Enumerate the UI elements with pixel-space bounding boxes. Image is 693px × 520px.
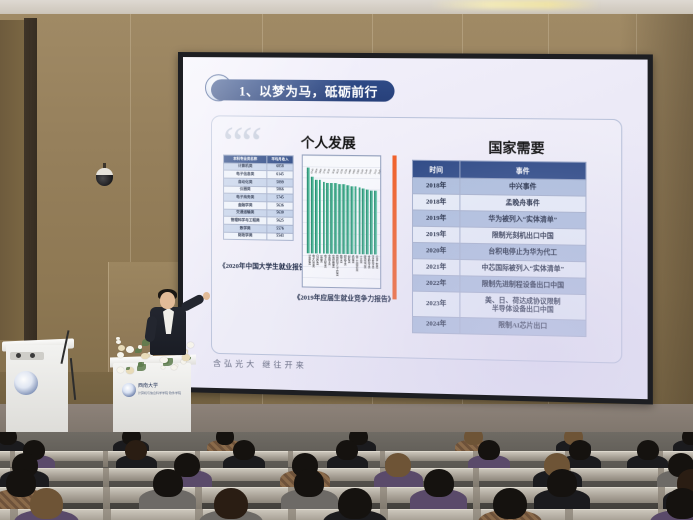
salary-table-caption: 《2020年中国大学生就业报告》 [219, 260, 312, 272]
chart-bar [334, 183, 337, 254]
column-divider [392, 155, 396, 299]
chart-bar [374, 191, 377, 254]
chart-bars [307, 166, 377, 255]
chart-category-label: 食品科学类 [366, 255, 369, 268]
chart-category-label: 电子信息类 [311, 254, 314, 267]
chart-category-label: 农业工程类 [374, 255, 377, 268]
salary-table-body: 计算机类6858电子信息类6145自动化类5899仪器类5866电子商务类574… [224, 163, 294, 241]
right-column-heading: 国家需要 [488, 136, 544, 157]
events-table-cell: 美、日、荷达成协议限制半导体设备出口中国 [460, 293, 586, 320]
chart-bar [346, 185, 349, 254]
chart-bar [338, 184, 341, 254]
events-table: 时间事件 2018年中兴事件2018年孟晚舟事件2019年华为被列入“实体清单”… [412, 160, 586, 337]
flower-petal [117, 367, 125, 373]
chart-bar [319, 180, 322, 254]
chart-bar [358, 188, 361, 255]
audience-person-head [569, 440, 591, 460]
flower-petal [126, 346, 134, 353]
chart-bar [307, 167, 310, 253]
events-table-cell: 2021年 [413, 259, 460, 276]
chart-category-label: 机械类 [350, 255, 353, 263]
presentation-slide: 1、以梦为马，砥砺前行 ““ 个人发展 国家需要 本科专业类名称平均月收入 计算… [183, 57, 648, 399]
ceiling-light [430, 0, 600, 9]
seated-audience [0, 432, 693, 520]
chart-category-label: 数学类 [338, 255, 341, 263]
audience-person-head [338, 488, 372, 519]
flower-petal [187, 342, 194, 348]
events-table-cell: 2019年 [413, 210, 460, 227]
chart-category-label: 环境科学类 [370, 255, 373, 268]
events-table-cell: 2018年 [413, 178, 460, 195]
chart-category-label: 化工与制药类 [354, 255, 357, 271]
table-row: 2023年美、日、荷达成协议限制半导体设备出口中国 [413, 292, 586, 320]
salary-table-cell: 5543 [267, 233, 293, 241]
table-row: 财政学类5543 [224, 232, 294, 241]
control-knob-icon [30, 353, 35, 358]
control-knob-icon [16, 353, 21, 358]
lectern-right [113, 363, 191, 443]
flower-petal [161, 366, 165, 369]
chart-category-label: 材料类 [346, 255, 349, 263]
chart-category-label: 金融学类 [327, 255, 330, 266]
events-table-cell: 华为被列入“实体清单” [460, 211, 586, 229]
audience-person-head [336, 440, 358, 460]
chart-category-label: 管理科学与工程类 [334, 255, 337, 276]
table-row: 2024年限制AI芯片出口 [413, 316, 586, 336]
chart-bar [327, 183, 330, 254]
events-table-header-row: 时间事件 [413, 160, 586, 180]
chart-bar [331, 183, 334, 254]
events-table-body: 2018年中兴事件2018年孟晚舟事件2019年华为被列入“实体清单”2019年… [413, 178, 586, 336]
lecture-hall-photo: 1、以梦为马，砥砺前行 ““ 个人发展 国家需要 本科专业类名称平均月收入 计算… [0, 0, 693, 520]
chart-bar [311, 176, 314, 253]
events-table-cell: 2023年 [413, 292, 460, 318]
chart-bar [342, 184, 345, 254]
events-table-cell: 2018年 [413, 194, 460, 211]
salary-table-cell: 财政学类 [224, 232, 267, 240]
lectern-right-crest-icon [122, 383, 136, 397]
flower-petal [141, 353, 149, 359]
audience-person-head [233, 440, 255, 460]
events-table-cell: 2020年 [413, 243, 460, 260]
events-table-cell: 2022年 [413, 275, 460, 292]
slide-title: 1、以梦为马，砥砺前行 [211, 79, 394, 102]
projection-screen: 1、以梦为马，砥砺前行 ““ 个人发展 国家需要 本科专业类名称平均月收入 计算… [178, 52, 653, 404]
seat-divider [103, 468, 109, 489]
flower-petal [118, 345, 125, 351]
audience-person-head [637, 440, 659, 460]
events-table-cell: 2024年 [413, 316, 460, 333]
audience-person-head [6, 469, 36, 497]
audience-person-head [478, 440, 500, 460]
chart-bar [315, 179, 318, 253]
slide-motto: 含弘光大 继往开来 [213, 358, 307, 371]
flower-petal [171, 365, 177, 370]
audience-person-head [385, 453, 411, 477]
audience-person-head [0, 432, 17, 445]
left-column-heading: 个人发展 [301, 131, 356, 152]
chart-bar [323, 182, 326, 254]
lectern-university-name: 西南大学 [138, 383, 181, 391]
audience-person-head [30, 488, 64, 519]
bar-chart-caption: 《2019年应届生就业竞争力报告》 [294, 291, 395, 303]
events-table-cell: 中兴事件 [460, 178, 586, 196]
chart-bar [362, 188, 365, 254]
events-table-header-cell: 事件 [460, 161, 586, 180]
seat-divider [103, 451, 108, 467]
seat-divider [103, 509, 111, 520]
lectern-left-crest-icon [14, 371, 38, 395]
events-table-header-cell: 时间 [413, 160, 460, 178]
chart-bar [366, 189, 369, 254]
chart-category-labels: 计算机类电子信息类自动化类仪器类电子商务类金融学类交通运输类管理科学与工程类数学… [307, 254, 377, 287]
wall-pillar [24, 18, 37, 358]
audience-person-head [294, 469, 324, 497]
audience-person-head [125, 440, 147, 460]
flower-petal [117, 352, 124, 358]
chart-category-label: 能源动力类 [362, 255, 365, 268]
flower-petal [182, 354, 190, 360]
audience-person-head [547, 469, 577, 497]
chart-bar-value: 5040 [377, 169, 381, 175]
screen-surface: 1、以梦为马，砥砺前行 ““ 个人发展 国家需要 本科专业类名称平均月收入 计算… [183, 57, 648, 399]
chart-category-label: 交通运输类 [331, 255, 334, 268]
events-table-cell: 孟晚舟事件 [460, 195, 586, 213]
audience-person-head [424, 469, 454, 497]
bar-chart: 6858614558995866574556365630562555765543… [302, 154, 381, 289]
chart-bar [370, 190, 373, 254]
chart-bar [350, 186, 353, 254]
chart-category-label: 财政学类 [342, 255, 345, 266]
chart-category-label: 电子商务类 [323, 255, 326, 268]
audience-person-head [153, 469, 183, 497]
chart-category-label: 土木类 [358, 255, 361, 263]
seat-divider [288, 509, 296, 520]
audience-person-head [493, 488, 527, 519]
presenter-head [160, 292, 175, 309]
lectern-department-name: 计算机与信息科学学院·软件学院 [138, 391, 181, 396]
presenter-hand [203, 292, 210, 300]
chart-category-label: 自动化类 [315, 254, 318, 265]
salary-table: 本科专业类名称平均月收入 计算机类6858电子信息类6145自动化类5899仪器… [223, 155, 294, 242]
flower-leaf [138, 362, 142, 365]
events-table-cell: 2019年 [413, 227, 460, 244]
audience-person-head [666, 488, 693, 519]
chart-bar [354, 187, 357, 254]
lectern-right-label: 西南大学 计算机与信息科学学院·软件学院 [138, 383, 181, 395]
seat-divider [473, 468, 479, 489]
seat-divider [565, 509, 573, 520]
chart-category-label: 计算机类 [307, 254, 310, 265]
chart-category-label: 仪器类 [319, 254, 322, 262]
flower-petal [116, 340, 121, 344]
events-table-cell: 限制AI芯片出口 [460, 317, 586, 336]
seat-divider [380, 451, 385, 467]
audience-person-head [214, 488, 248, 519]
